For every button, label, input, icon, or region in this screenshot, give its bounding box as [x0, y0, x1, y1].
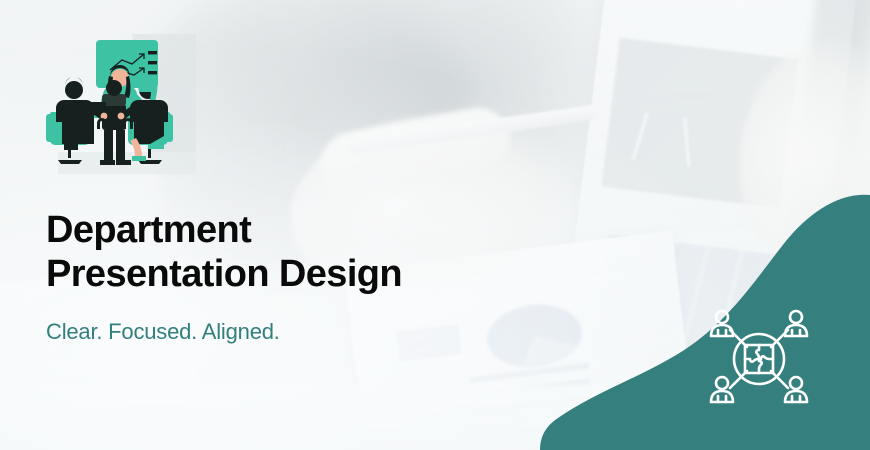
team-network-puzzle-icon	[700, 300, 818, 418]
page-title: Department Presentation Design	[46, 208, 516, 297]
presentation-slide: Department Presentation Design Clear. Fo…	[0, 0, 870, 450]
page-subtitle: Clear. Focused. Aligned.	[46, 319, 516, 345]
page-title-line-1: Department	[46, 209, 251, 251]
team-meeting-illustration	[36, 34, 196, 174]
text-block: Department Presentation Design Clear. Fo…	[46, 208, 516, 345]
page-title-line-2: Presentation Design	[46, 252, 516, 296]
